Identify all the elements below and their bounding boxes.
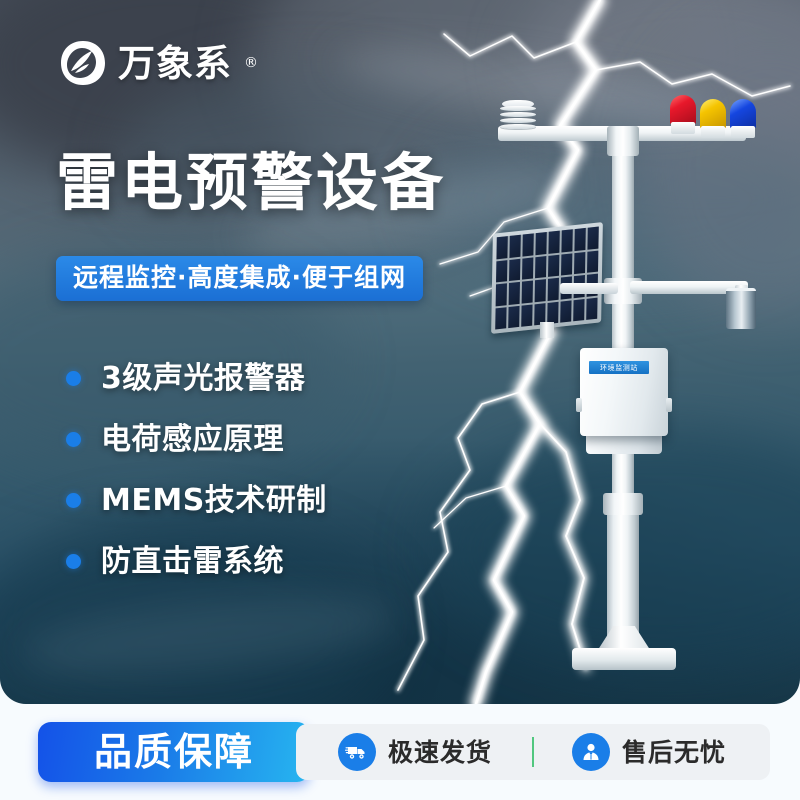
shield-cap (502, 100, 534, 108)
list-item: 电荷感应原理 (66, 409, 446, 470)
blue-alarm-beacon (730, 99, 756, 141)
bottom-trust-bar: 品质保障 极速发货 (0, 704, 800, 800)
feature-list: 3级声光报警器 电荷感应原理 MEMS技术研制 防直击雷系统 (66, 348, 446, 592)
solar-cell-grid (495, 227, 599, 330)
control-box-lower (586, 424, 662, 454)
bullet-dot-icon (66, 554, 81, 569)
feature-label: 防直击雷系统 (101, 547, 284, 577)
registered-mark: ® (244, 55, 258, 71)
beacon-base (671, 122, 695, 134)
storm-background-photo: 环境监测站 万象系 ® 雷电预警设备 远程监控·高度集成·便于组网 3 (0, 0, 800, 704)
subtitle-text: 远程监控·高度集成·便于组网 (73, 263, 406, 292)
product-poster: 环境监测站 万象系 ® 雷电预警设备 远程监控·高度集成·便于组网 3 (0, 0, 800, 800)
beacon-dome (700, 99, 726, 129)
haze-streak (17, 580, 402, 689)
beacon-base (731, 126, 755, 138)
control-box-label: 环境监测站 (589, 361, 649, 374)
control-box-latch (576, 398, 582, 412)
service-divider (532, 737, 534, 767)
cloud-blob (430, 430, 800, 670)
cylindrical-sensor (726, 288, 756, 329)
beacon-base (701, 126, 725, 138)
beacon-dome (730, 99, 756, 129)
list-item: 3级声光报警器 (66, 348, 446, 409)
service-strip: 极速发货 售后无忧 (296, 724, 770, 780)
service-label: 售后无忧 (622, 740, 726, 765)
mast-pole (612, 128, 634, 656)
radiation-shield-sensor (500, 104, 536, 134)
brand-name: 万象系 (118, 45, 232, 82)
bullet-dot-icon (66, 432, 81, 447)
shield-plate (500, 118, 536, 123)
mast-base-flare (594, 626, 654, 656)
quality-badge: 品质保障 (38, 722, 310, 782)
right-sensor-arm (630, 281, 748, 294)
mast-lower-pole (607, 500, 639, 660)
mast-collar (604, 278, 642, 304)
service-after-sales: 售后无忧 (572, 733, 726, 771)
feature-label: 电荷感应原理 (101, 425, 284, 455)
service-label: 极速发货 (388, 740, 492, 765)
feature-label: MEMS技术研制 (101, 486, 327, 516)
cloud-blob (420, 110, 800, 290)
subtitle-pill: 远程监控·高度集成·便于组网 (56, 256, 423, 301)
quality-badge-label: 品质保障 (94, 733, 254, 771)
support-person-icon (572, 733, 610, 771)
solar-panel-frame (491, 222, 603, 334)
delivery-truck-icon (338, 733, 376, 771)
list-item: MEMS技术研制 (66, 470, 446, 531)
solar-panel-stand (540, 322, 554, 338)
control-box (580, 348, 668, 436)
swirl-logo-icon (58, 38, 108, 88)
cloud-blob (520, 0, 800, 160)
page-title: 雷电预警设备 (56, 152, 446, 214)
bullet-dot-icon (66, 371, 81, 386)
shield-plate (500, 106, 536, 111)
control-box-latch (666, 398, 672, 412)
mast-collar (603, 493, 643, 515)
bullet-dot-icon (66, 493, 81, 508)
mast-base-plate (572, 648, 676, 670)
solar-panel (491, 222, 603, 334)
top-cross-arm (498, 126, 746, 141)
left-support-arm (560, 283, 618, 294)
feature-label: 3级声光报警器 (101, 364, 305, 394)
beacon-dome (670, 95, 696, 125)
haze-streak (328, 34, 712, 138)
shield-plate (500, 124, 536, 129)
list-item: 防直击雷系统 (66, 531, 446, 592)
service-fast-shipping: 极速发货 (338, 733, 492, 771)
shield-plate (500, 112, 536, 117)
yellow-alarm-beacon (700, 99, 726, 141)
brand-logo: 万象系 ® (58, 38, 258, 88)
right-sensor-arm-drop (735, 285, 748, 321)
mast-collar (607, 126, 639, 156)
cloud-blob (640, 20, 800, 320)
red-alarm-beacon (670, 95, 696, 137)
